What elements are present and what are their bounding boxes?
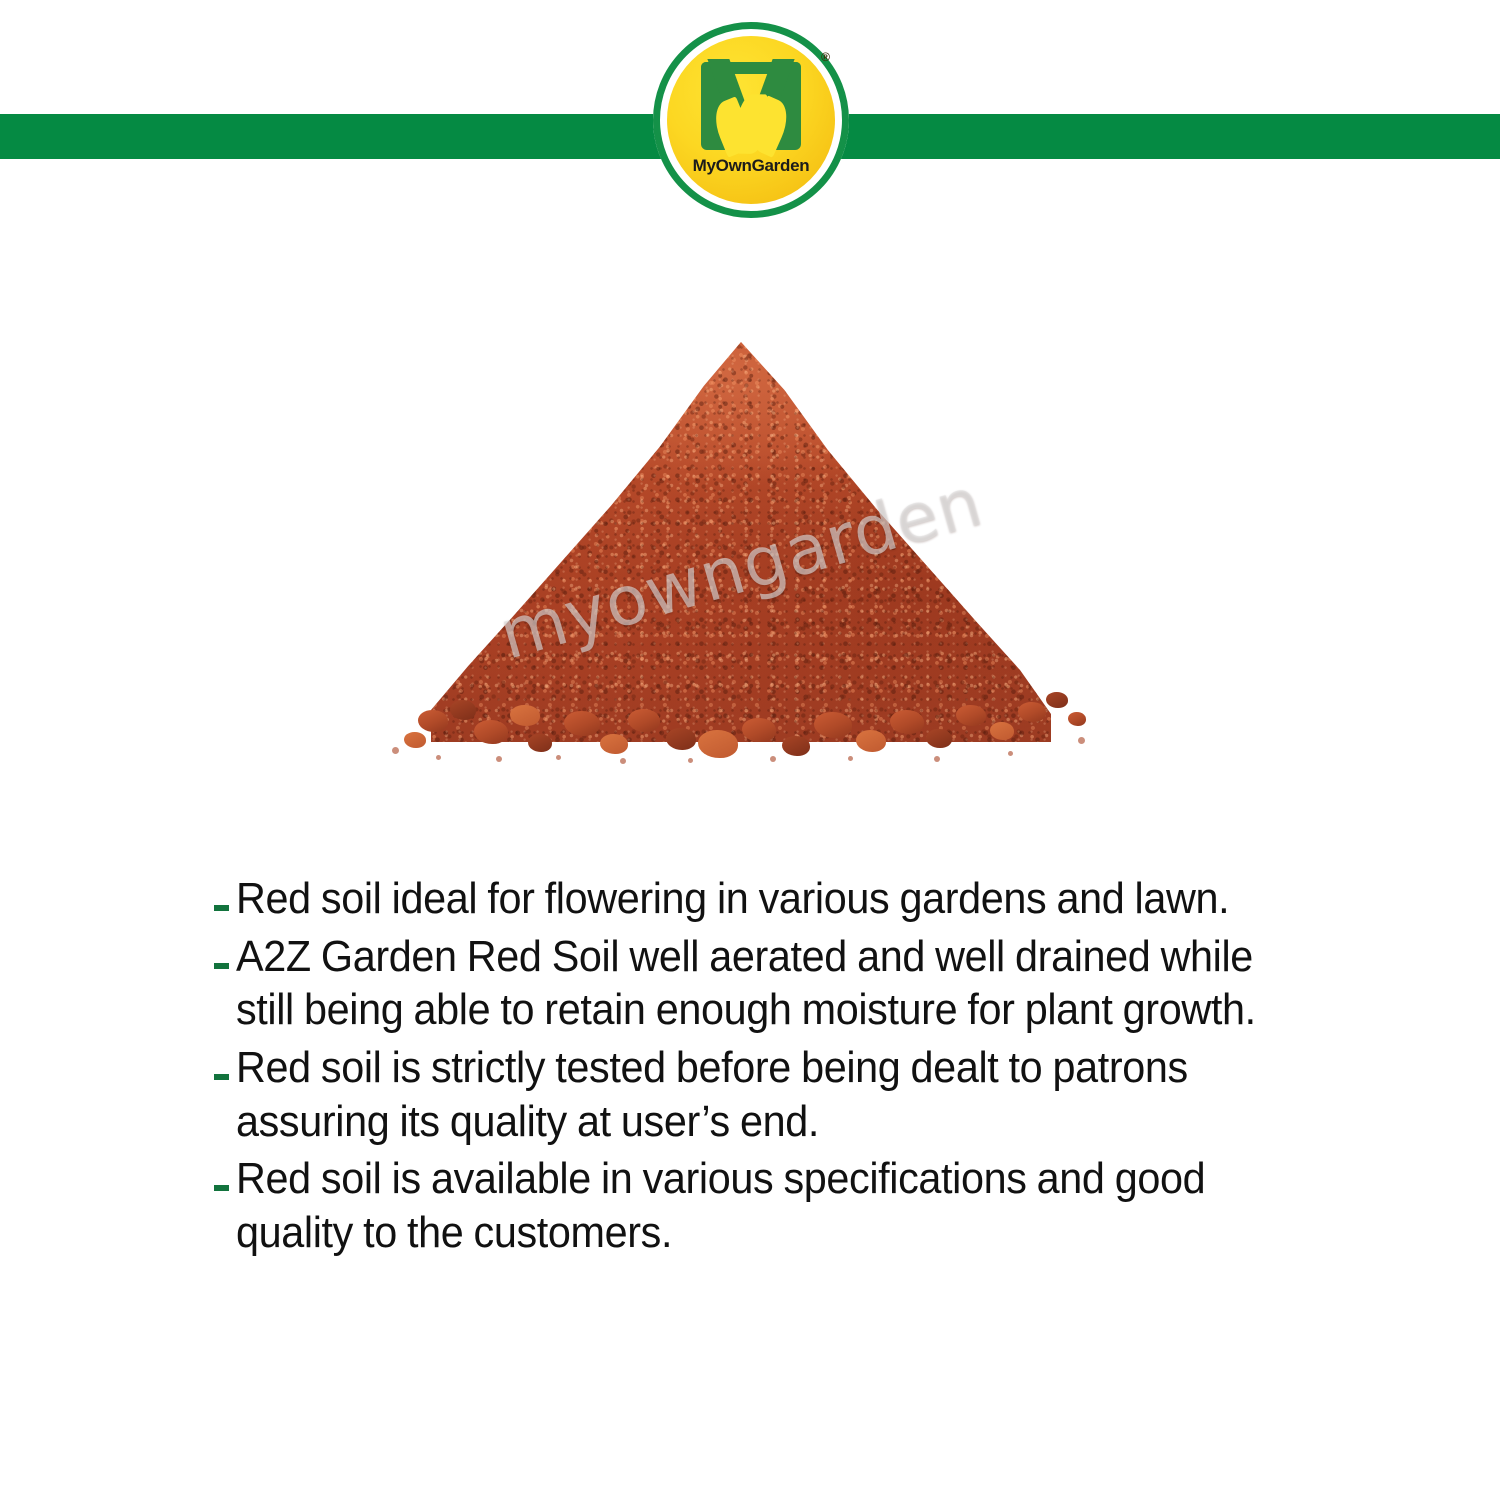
list-item: Red soil ideal for flowering in various … bbox=[214, 872, 1374, 926]
registered-trademark-icon: ® bbox=[821, 51, 830, 63]
logo-leaves-icon bbox=[717, 94, 785, 156]
feature-text: Red soil is available in various specifi… bbox=[236, 1152, 1306, 1259]
logo-wordmark: MyOwnGarden bbox=[667, 156, 835, 176]
feature-list: Red soil ideal for flowering in various … bbox=[214, 872, 1374, 1264]
feature-text: A2Z Garden Red Soil well aerated and wel… bbox=[236, 930, 1306, 1037]
brand-logo[interactable]: MyOwnGarden ® bbox=[653, 22, 849, 218]
list-item: A2Z Garden Red Soil well aerated and wel… bbox=[214, 930, 1374, 1037]
page-header: MyOwnGarden ® bbox=[0, 0, 1500, 240]
bullet-dash-icon bbox=[214, 898, 236, 911]
feature-text: Red soil ideal for flowering in various … bbox=[236, 872, 1306, 926]
soil-crumbs-scatter bbox=[378, 646, 1104, 766]
bullet-dash-icon bbox=[214, 1067, 236, 1080]
product-photo: myowngarden bbox=[378, 296, 1104, 766]
logo-gold-disc: MyOwnGarden bbox=[667, 36, 835, 204]
feature-text: Red soil is strictly tested before being… bbox=[236, 1041, 1261, 1148]
list-item: Red soil is available in various specifi… bbox=[214, 1152, 1374, 1259]
list-item: Red soil is strictly tested before being… bbox=[214, 1041, 1374, 1148]
bullet-dash-icon bbox=[214, 956, 236, 969]
bullet-dash-icon bbox=[214, 1178, 236, 1191]
